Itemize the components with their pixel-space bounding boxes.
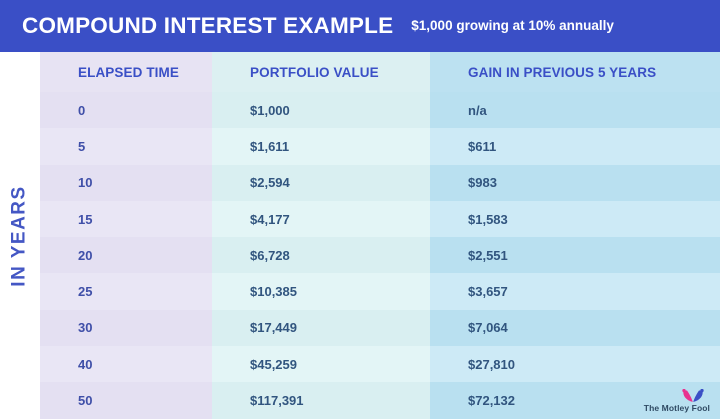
axis-label-in-years: IN YEARS xyxy=(9,185,31,286)
cell-gain: $7,064 xyxy=(430,310,720,346)
title-bar: COMPOUND INTEREST EXAMPLE $1,000 growing… xyxy=(0,0,720,52)
cell-value: 40 xyxy=(78,357,92,372)
cell-value: $72,132 xyxy=(468,393,515,408)
cell-value: 50 xyxy=(78,393,92,408)
cell-value: 10 xyxy=(78,175,92,190)
cell-value: $27,810 xyxy=(468,357,515,372)
cell-value: $7,064 xyxy=(468,320,508,335)
table-row: 5 $1,611 $611 xyxy=(40,128,720,164)
cell-value: $1,000 xyxy=(250,103,290,118)
cell-elapsed-time: 20 xyxy=(40,237,212,273)
cell-value: 15 xyxy=(78,212,92,227)
table-row: 30 $17,449 $7,064 xyxy=(40,310,720,346)
cell-portfolio-value: $2,594 xyxy=(212,165,430,201)
brand-logo-text: The Motley Fool xyxy=(644,404,710,413)
cell-portfolio-value: $6,728 xyxy=(212,237,430,273)
cell-value: $983 xyxy=(468,175,497,190)
cell-elapsed-time: 0 xyxy=(40,92,212,128)
cell-value: $611 xyxy=(468,139,496,154)
cell-value: $6,728 xyxy=(250,248,290,263)
cell-gain: $611 xyxy=(430,128,720,164)
cell-elapsed-time: 25 xyxy=(40,273,212,309)
table-row: 20 $6,728 $2,551 xyxy=(40,237,720,273)
cell-gain: $1,583 xyxy=(430,201,720,237)
page-title: COMPOUND INTEREST EXAMPLE xyxy=(22,15,393,38)
table-row: 25 $10,385 $3,657 xyxy=(40,273,720,309)
data-table: ELAPSED TIME PORTFOLIO VALUE GAIN IN PRE… xyxy=(40,52,720,419)
cell-portfolio-value: $117,391 xyxy=(212,382,430,418)
cell-portfolio-value: $45,259 xyxy=(212,346,430,382)
table-row: 15 $4,177 $1,583 xyxy=(40,201,720,237)
cell-value: 20 xyxy=(78,248,92,263)
cell-value: $1,583 xyxy=(468,212,508,227)
cell-value: $2,551 xyxy=(468,248,508,263)
cell-gain: $27,810 xyxy=(430,346,720,382)
cell-gain: $983 xyxy=(430,165,720,201)
cell-elapsed-time: 50 xyxy=(40,382,212,418)
table-row: 40 $45,259 $27,810 xyxy=(40,346,720,382)
cell-value: 0 xyxy=(78,103,85,118)
cell-elapsed-time: 5 xyxy=(40,128,212,164)
cell-portfolio-value: $1,000 xyxy=(212,92,430,128)
cell-gain: n/a xyxy=(430,92,720,128)
table-row: 10 $2,594 $983 xyxy=(40,165,720,201)
cell-value: $17,449 xyxy=(250,320,297,335)
column-header-elapsed-time: ELAPSED TIME xyxy=(40,52,212,92)
cell-value: 25 xyxy=(78,284,92,299)
cell-value: $2,594 xyxy=(250,175,290,190)
column-header-label: GAIN IN PREVIOUS 5 YEARS xyxy=(468,65,656,80)
cell-value: $4,177 xyxy=(250,212,290,227)
column-header-label: PORTFOLIO VALUE xyxy=(250,65,379,80)
cell-portfolio-value: $1,611 xyxy=(212,128,430,164)
cell-value: $3,657 xyxy=(468,284,508,299)
page-subtitle: $1,000 growing at 10% annually xyxy=(411,19,614,33)
jester-cap-icon xyxy=(682,389,704,403)
table-row: 50 $117,391 $72,132 xyxy=(40,382,720,418)
column-header-label: ELAPSED TIME xyxy=(78,65,179,80)
cell-value: n/a xyxy=(468,103,487,118)
cell-value: $117,391 xyxy=(250,393,304,408)
axis-label-container: IN YEARS xyxy=(0,52,40,419)
column-header-portfolio-value: PORTFOLIO VALUE xyxy=(212,52,430,92)
table-row: 0 $1,000 n/a xyxy=(40,92,720,128)
infographic-root: COMPOUND INTEREST EXAMPLE $1,000 growing… xyxy=(0,0,720,419)
cell-elapsed-time: 15 xyxy=(40,201,212,237)
cell-portfolio-value: $10,385 xyxy=(212,273,430,309)
column-header-gain: GAIN IN PREVIOUS 5 YEARS xyxy=(430,52,720,92)
cell-value: 30 xyxy=(78,320,92,335)
cell-value: $1,611 xyxy=(250,139,289,154)
cell-gain: $3,657 xyxy=(430,273,720,309)
cell-portfolio-value: $4,177 xyxy=(212,201,430,237)
cell-gain: $2,551 xyxy=(430,237,720,273)
cell-portfolio-value: $17,449 xyxy=(212,310,430,346)
cell-elapsed-time: 10 xyxy=(40,165,212,201)
cell-value: $45,259 xyxy=(250,357,297,372)
brand-logo: The Motley Fool xyxy=(644,389,710,413)
table-header-row: ELAPSED TIME PORTFOLIO VALUE GAIN IN PRE… xyxy=(40,52,720,92)
cell-value: $10,385 xyxy=(250,284,297,299)
cell-value: 5 xyxy=(78,139,85,154)
cell-elapsed-time: 40 xyxy=(40,346,212,382)
cell-elapsed-time: 30 xyxy=(40,310,212,346)
